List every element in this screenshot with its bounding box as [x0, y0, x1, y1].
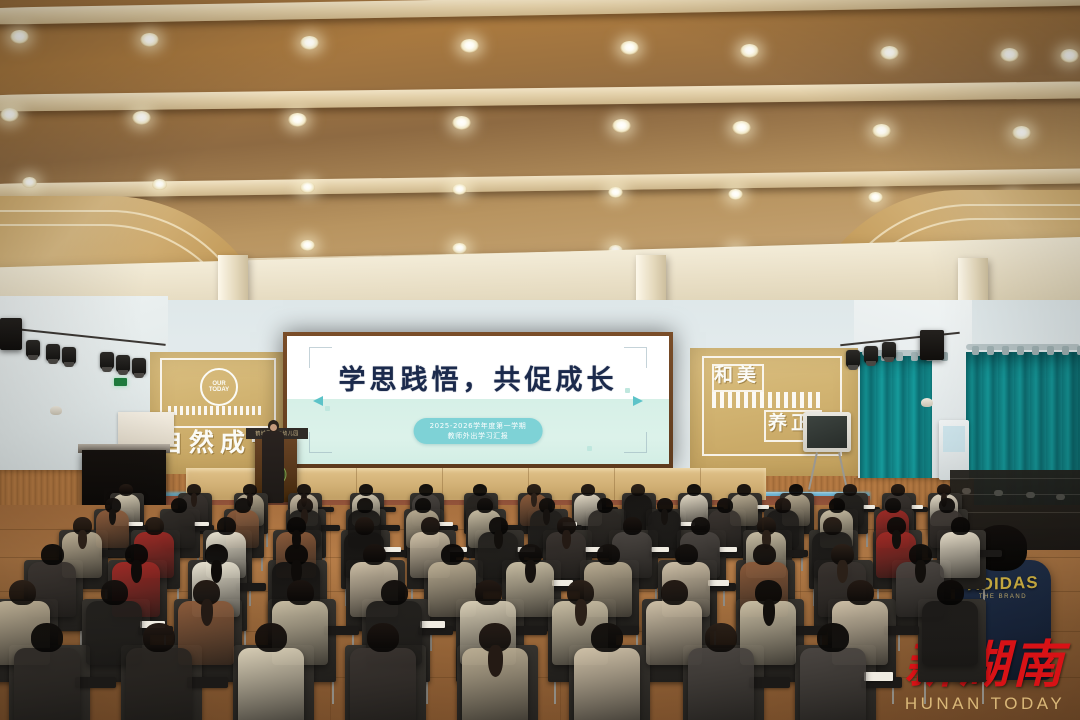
- chair-writing-tablet: [512, 626, 547, 635]
- ceiling-downlight: [132, 111, 151, 125]
- audience-member-head: [441, 544, 464, 565]
- hair-ponytail: [201, 599, 213, 626]
- chair-writing-tablet: [749, 677, 790, 688]
- stage-light: [846, 350, 860, 367]
- hair-ponytail: [494, 530, 503, 549]
- stage-light: [46, 344, 60, 361]
- led-screen: 学思践悟，共促成长 2025-2026学年度第一学期 教师外出学习汇报: [287, 336, 669, 464]
- school-logo-circle: OUR TODAY: [200, 368, 238, 406]
- audience-member-head: [355, 517, 374, 535]
- audience-member-head: [357, 498, 373, 513]
- audience-member-head: [359, 484, 373, 496]
- stage-light: [132, 358, 146, 375]
- tv-monitor: [803, 412, 851, 452]
- audience-member-head: [717, 498, 733, 513]
- hair-ponytail: [837, 560, 848, 583]
- ceiling-downlight: [300, 36, 319, 50]
- audience-member-head: [381, 580, 408, 605]
- logo-sub-text: TODAY: [209, 387, 229, 393]
- audience-member-head: [415, 498, 431, 513]
- notepaper: [128, 522, 143, 526]
- speaker-box-right: [920, 330, 944, 360]
- audience-member-head: [691, 517, 710, 535]
- audience-member-head: [477, 498, 493, 513]
- audience-member-body: [688, 648, 754, 720]
- ceiling-beam: [0, 0, 1080, 26]
- exit-sign: [114, 378, 127, 386]
- audience-member-head: [891, 484, 905, 496]
- audience-member-head: [581, 484, 595, 496]
- audience-member-head: [101, 580, 128, 605]
- wall-sconce: [921, 398, 933, 407]
- audience-member-head: [9, 580, 36, 605]
- hair-ponytail: [488, 645, 503, 677]
- wall-word-top: 和美: [714, 366, 760, 385]
- hair-ponytail: [191, 493, 197, 507]
- notepaper: [864, 672, 893, 681]
- hair-ponytail: [661, 509, 668, 525]
- audience-member-head: [31, 623, 63, 652]
- hair-ponytail: [531, 493, 537, 507]
- audience-member-head: [255, 623, 287, 652]
- ceiling-downlight: [460, 39, 479, 53]
- audience-member-head: [937, 580, 964, 605]
- audience-member-head: [939, 498, 955, 513]
- audience-member-head: [421, 517, 440, 535]
- audience-member-head: [823, 517, 842, 535]
- hair-ponytail: [763, 599, 775, 626]
- presenter-face: [270, 424, 277, 431]
- notepaper: [708, 580, 729, 586]
- slide-subtitle-line1: 2025-2026学年度第一学期: [430, 421, 527, 431]
- slide-dot: [587, 446, 592, 451]
- chair-writing-tablet: [236, 583, 266, 591]
- chair-writing-tablet: [319, 525, 340, 531]
- notepaper: [911, 505, 923, 509]
- audience-member-body: [238, 648, 304, 720]
- audience-member-head: [367, 623, 399, 652]
- stage-light: [882, 342, 896, 359]
- audience-member-head: [143, 623, 175, 652]
- audience-member-head: [145, 517, 164, 535]
- chair-writing-tablet: [977, 550, 1002, 557]
- stage-light: [864, 346, 878, 363]
- audience-member-head: [951, 517, 970, 535]
- notepaper: [719, 547, 737, 552]
- audience-member-head: [287, 580, 314, 605]
- audience-member-body: [14, 648, 80, 720]
- audience-member-body: [126, 648, 192, 720]
- audience-member-head: [473, 484, 487, 496]
- stage-light: [62, 347, 76, 364]
- slide-corner-bracket: [624, 432, 647, 453]
- ceiling-downlight: [740, 44, 759, 58]
- audience-member-head: [843, 484, 857, 496]
- hair-ponytail: [109, 509, 116, 525]
- audience-member-body: [350, 648, 416, 720]
- chair-writing-tablet: [99, 550, 124, 557]
- slide-subtitle-line2: 教师外出学习汇报: [430, 431, 527, 441]
- audience-member-head: [363, 544, 386, 565]
- audience-member-head: [597, 544, 620, 565]
- audience-member-body: [922, 601, 978, 665]
- audience-member-head: [847, 580, 874, 605]
- hair-ponytail: [131, 560, 142, 583]
- stage-light: [100, 352, 114, 369]
- audience-member-head: [737, 484, 751, 496]
- triangle-right-icon: [633, 396, 643, 406]
- audience-member-head: [119, 484, 133, 496]
- audience-member-head: [885, 498, 901, 513]
- audience-member-head: [829, 498, 845, 513]
- audience-member-head: [623, 517, 642, 535]
- ceiling-downlight: [868, 192, 883, 203]
- audience-member-head: [789, 484, 803, 496]
- chair-leg: [266, 533, 268, 547]
- curtain-rings: [972, 346, 1080, 355]
- ceiling-downlight: [140, 33, 159, 47]
- presenter-body: [262, 431, 284, 503]
- notepaper: [651, 547, 669, 552]
- chair-leg: [866, 533, 868, 547]
- notepaper: [420, 621, 445, 628]
- auditorium-photo: OUR TODAY 自然成长 和美 养正 学思践悟，共促成长: [0, 0, 1080, 720]
- ceiling-downlight: [880, 46, 899, 60]
- audience-member-head: [597, 498, 613, 513]
- slide-dot: [325, 406, 330, 411]
- hair-ponytail: [211, 560, 222, 583]
- ceiling-beam: [0, 80, 1080, 113]
- notepaper: [438, 522, 453, 526]
- stage-light: [116, 355, 130, 372]
- stage-light: [26, 340, 40, 357]
- triangle-left-icon: [313, 396, 323, 406]
- audience-member-head: [475, 580, 502, 605]
- notepaper: [863, 505, 875, 509]
- audience-member-head: [41, 544, 64, 565]
- audience-member-body: [800, 648, 866, 720]
- audience-member-head: [235, 498, 251, 513]
- notepaper: [194, 522, 209, 526]
- audience-member-head: [687, 484, 701, 496]
- hair-ponytail: [575, 599, 587, 626]
- speaker-box-left: [0, 318, 22, 350]
- banner-texture-strip: [712, 392, 822, 408]
- slide-headline: 学思践悟，共促成长: [287, 358, 669, 397]
- chair-writing-tablet: [324, 626, 359, 635]
- audience-member-head: [661, 580, 688, 605]
- banner-texture-strip: [168, 406, 264, 415]
- audience-member-head: [217, 517, 236, 535]
- audience-member-head: [419, 484, 433, 496]
- chair-writing-tablet: [187, 677, 228, 688]
- slide-dot: [625, 388, 630, 393]
- chair-writing-tablet: [75, 677, 116, 688]
- audience-member-head: [705, 623, 737, 652]
- ceiling-downlight: [452, 243, 467, 254]
- chair-writing-tablet: [884, 626, 919, 635]
- audience-member-head: [631, 484, 645, 496]
- audience-member-body: [574, 648, 640, 720]
- slide-subtitle-badge: 2025-2026学年度第一学期 教师外出学习汇报: [414, 418, 543, 444]
- audience-member-head: [817, 623, 849, 652]
- audience-member-head: [171, 498, 187, 513]
- audience-member-head: [775, 498, 791, 513]
- slide-corner-bracket: [309, 432, 332, 453]
- hair-ponytail: [78, 530, 87, 549]
- hair-ponytail: [525, 560, 536, 583]
- audience-member-head: [675, 544, 698, 565]
- wall-sconce: [50, 406, 62, 415]
- hair-ponytail: [892, 530, 901, 549]
- hair-ponytail: [915, 560, 926, 583]
- ceiling-downlight: [300, 182, 315, 193]
- hair-ponytail: [543, 509, 550, 525]
- audience-member-body: [940, 532, 980, 578]
- audience-member-head: [591, 623, 623, 652]
- hair-ponytail: [562, 530, 571, 549]
- wall-picture: [118, 412, 174, 446]
- audience-member-head: [753, 544, 776, 565]
- ceiling-downlight: [872, 124, 891, 138]
- chair-writing-tablet: [783, 550, 808, 557]
